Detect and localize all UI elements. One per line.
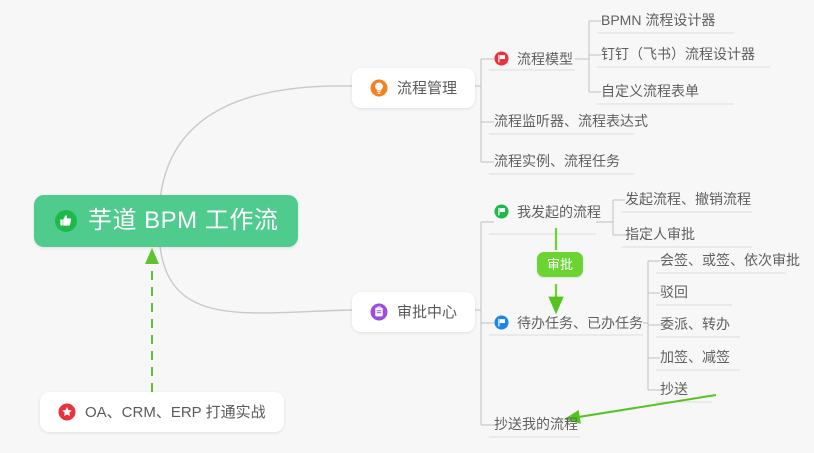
branch-label-process-management: 流程管理 xyxy=(397,81,457,96)
node-label-todo-done-tasks: 待办任务、已办任务 xyxy=(517,316,643,330)
mindmap-canvas: 芋道 BPM 工作流 流程管理 流程模型 BPMN 流程设计器 钉钉（飞书）流 xyxy=(0,0,814,453)
star-icon xyxy=(58,403,76,421)
node-label-dingtalk-feishu-designer: 钉钉（飞书）流程设计器 xyxy=(601,47,755,61)
node-todo-done-tasks[interactable]: 待办任务、已办任务 xyxy=(494,315,643,330)
clipboard-icon xyxy=(370,303,388,321)
node-add-remove-sign[interactable]: 加签、减签 xyxy=(660,350,730,364)
flag-icon-red xyxy=(494,51,509,66)
link-root-to-approval-center xyxy=(160,246,352,313)
thumbs-up-icon xyxy=(54,209,78,233)
node-label-countersign-or-sequential: 会签、或签、依次审批 xyxy=(660,253,800,267)
node-delegate-transfer[interactable]: 委派、转办 xyxy=(660,317,730,331)
node-label-process-instance-task: 流程实例、流程任务 xyxy=(494,154,620,168)
node-reject[interactable]: 驳回 xyxy=(660,285,688,299)
node-dingtalk-feishu-designer[interactable]: 钉钉（飞书）流程设计器 xyxy=(601,47,755,61)
node-label-bpmn-designer: BPMN 流程设计器 xyxy=(601,13,715,27)
root-node[interactable]: 芋道 BPM 工作流 xyxy=(34,195,298,247)
node-label-add-remove-sign: 加签、减签 xyxy=(660,350,730,364)
node-assignee-approval[interactable]: 指定人审批 xyxy=(625,227,695,241)
node-process-listener-expression[interactable]: 流程监听器、流程表达式 xyxy=(494,114,648,128)
flag-icon-green xyxy=(494,204,509,219)
node-label-process-listener-expression: 流程监听器、流程表达式 xyxy=(494,114,648,128)
branch-label-approval-center: 审批中心 xyxy=(397,305,457,320)
arrow-cc-to-ccme xyxy=(566,395,716,419)
node-label-custom-process-form: 自定义流程表单 xyxy=(601,84,699,98)
node-cc[interactable]: 抄送 xyxy=(660,382,688,396)
approval-badge[interactable]: 审批 xyxy=(537,252,583,277)
lightbulb-icon xyxy=(370,79,388,97)
node-start-cancel-process[interactable]: 发起流程、撤销流程 xyxy=(625,192,751,206)
node-process-instance-task[interactable]: 流程实例、流程任务 xyxy=(494,154,620,168)
node-countersign-or-sequential[interactable]: 会签、或签、依次审批 xyxy=(660,253,800,267)
node-label-start-cancel-process: 发起流程、撤销流程 xyxy=(625,192,751,206)
branch-node-approval-center[interactable]: 审批中心 xyxy=(352,292,475,332)
flag-icon-blue xyxy=(494,315,509,330)
node-label-cc: 抄送 xyxy=(660,382,688,396)
node-label-assignee-approval: 指定人审批 xyxy=(625,227,695,241)
node-label-reject: 驳回 xyxy=(660,285,688,299)
footer-node-label: OA、CRM、ERP 打通实战 xyxy=(85,405,266,420)
node-process-model[interactable]: 流程模型 xyxy=(494,51,573,66)
node-label-cc-to-me-process: 抄送我的流程 xyxy=(494,417,578,431)
branch-node-process-management[interactable]: 流程管理 xyxy=(352,68,475,108)
node-label-process-model: 流程模型 xyxy=(517,52,573,66)
link-root-to-process-management xyxy=(160,86,352,200)
node-my-initiated-process[interactable]: 我发起的流程 xyxy=(494,204,601,219)
node-label-my-initiated-process: 我发起的流程 xyxy=(517,205,601,219)
node-label-delegate-transfer: 委派、转办 xyxy=(660,317,730,331)
footer-node-oa-crm-erp[interactable]: OA、CRM、ERP 打通实战 xyxy=(40,392,284,432)
node-bpmn-designer[interactable]: BPMN 流程设计器 xyxy=(601,13,715,27)
node-cc-to-me-process[interactable]: 抄送我的流程 xyxy=(494,417,578,431)
root-label: 芋道 BPM 工作流 xyxy=(88,209,278,233)
node-custom-process-form[interactable]: 自定义流程表单 xyxy=(601,84,699,98)
